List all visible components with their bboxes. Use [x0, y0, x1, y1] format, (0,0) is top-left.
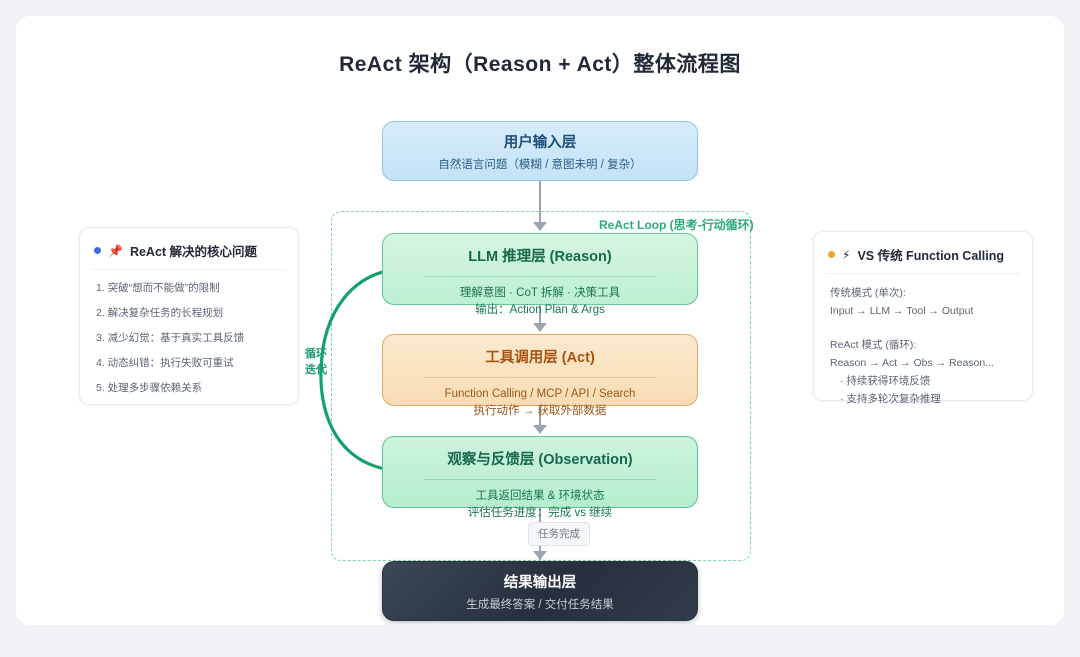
flow-box-act-title: 工具调用层 (Act) [383, 348, 697, 368]
flow-box-reason-line1: 理解意图 · CoT 拆解 · 决策工具 [383, 285, 697, 302]
flow-box-observation-title: 观察与反馈层 (Observation) [383, 450, 697, 470]
card-core-problems: 📌 ReAct 解决的核心问题 1. 突破“想而不能做”的限制 2. 解决复杂任… [79, 227, 299, 405]
flow-box-reason-divider [424, 276, 656, 277]
lightning-icon: ⚡ [842, 248, 850, 262]
flow-box-act[interactable]: 工具调用层 (Act) Function Calling / MCP / API… [382, 334, 698, 406]
flow-box-observation-line2: 评估任务进度：完成 vs 继续 [383, 505, 697, 522]
react-mode-label: ReAct 模式 (循环): [830, 336, 1016, 354]
flow-box-user-input[interactable]: 用户输入层 自然语言问题（模糊 / 意图未明 / 复杂） [382, 121, 698, 181]
flow-box-observation[interactable]: 观察与反馈层 (Observation) 工具返回结果 & 环境状态 评估任务进… [382, 436, 698, 508]
card-core-problems-body: 1. 突破“想而不能做”的限制 2. 解决复杂任务的长程规划 3. 减少幻觉：基… [80, 270, 298, 410]
flow-box-output-title: 结果输出层 [383, 573, 697, 593]
list-item: 5. 处理多步骤依赖关系 [96, 380, 282, 396]
flow-box-act-line1: Function Calling / MCP / API / Search [383, 386, 697, 403]
arrowhead-act-to-observation [533, 425, 547, 434]
flow-box-act-divider [424, 377, 656, 378]
react-mode-flow: Reason → Act → Obs → Reason... [830, 354, 1016, 372]
loop-arc-label: 循环 迭代 [299, 346, 333, 378]
spacer [830, 320, 1016, 336]
flow-box-reason-title: LLM 推理层 (Reason) [383, 247, 697, 267]
list-item: 2. 解决复杂任务的长程规划 [96, 305, 282, 321]
card-vs-function-calling-body: 传统模式 (单次): Input → LLM → Tool → Output R… [814, 274, 1032, 422]
card-core-problems-title: ReAct 解决的核心问题 [130, 241, 257, 260]
loop-arc-label-line1: 循环 [299, 346, 333, 362]
list-item: 3. 减少幻觉：基于真实工具反馈 [96, 330, 282, 346]
flow-box-user-input-title: 用户输入层 [383, 133, 697, 153]
card-vs-function-calling: ⚡ VS 传统 Function Calling 传统模式 (单次): Inpu… [813, 231, 1033, 401]
traditional-mode-label: 传统模式 (单次): [830, 284, 1016, 302]
blue-dot-icon [94, 247, 101, 254]
pushpin-icon: 📌 [108, 244, 123, 258]
list-item: 4. 动态纠错：执行失败可重试 [96, 355, 282, 371]
page-title: ReAct 架构（Reason + Act）整体流程图 [16, 48, 1064, 78]
list-item: 1. 突破“想而不能做”的限制 [96, 280, 282, 296]
flow-box-output[interactable]: 结果输出层 生成最终答案 / 交付任务结果 [382, 561, 698, 621]
diagram-canvas: ReAct 架构（Reason + Act）整体流程图 ReAct Loop (… [16, 16, 1064, 625]
arrowhead-input-to-reason [533, 222, 547, 231]
card-core-problems-header: 📌 ReAct 解决的核心问题 [80, 228, 298, 269]
list-item: · 持续获得环境反馈 [830, 372, 1016, 390]
card-vs-function-calling-header: ⚡ VS 传统 Function Calling [814, 232, 1032, 273]
connector-input-to-reason [539, 181, 541, 224]
flow-box-reason[interactable]: LLM 推理层 (Reason) 理解意图 · CoT 拆解 · 决策工具 输出… [382, 233, 698, 305]
flow-box-act-line2: 执行动作 → 获取外部数据 [383, 403, 697, 420]
loop-arc-label-line2: 迭代 [299, 362, 333, 378]
flow-box-output-subtitle: 生成最终答案 / 交付任务结果 [383, 597, 697, 614]
flow-box-reason-line2: 输出：Action Plan & Args [383, 302, 697, 319]
orange-dot-icon [828, 251, 835, 258]
list-item: · 支持多轮次复杂推理 [830, 390, 1016, 408]
flow-box-observation-line1: 工具返回结果 & 环境状态 [383, 488, 697, 505]
arrowhead-reason-to-act [533, 323, 547, 332]
status-badge-task-done: 任务完成 [528, 522, 590, 546]
arrowhead-badge-to-output [533, 551, 547, 560]
traditional-mode-flow: Input → LLM → Tool → Output [830, 302, 1016, 320]
flow-box-user-input-subtitle: 自然语言问题（模糊 / 意图未明 / 复杂） [383, 157, 697, 174]
flow-box-observation-divider [424, 479, 656, 480]
card-vs-function-calling-title: VS 传统 Function Calling [857, 245, 1004, 264]
